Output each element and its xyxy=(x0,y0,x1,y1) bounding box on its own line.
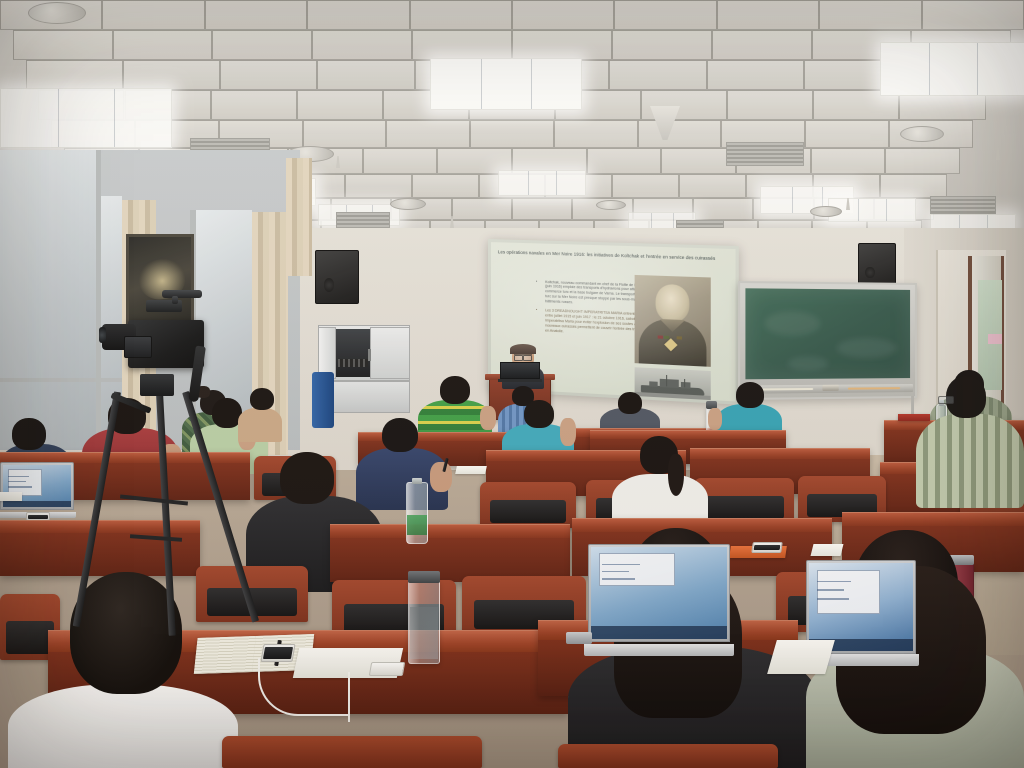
lecture-hall-photo: Les opérations navales en Mer Noire 1916… xyxy=(0,0,1024,768)
desk-surface xyxy=(842,512,1024,527)
ceiling-tile xyxy=(609,60,706,90)
door-notice xyxy=(988,334,1002,344)
arm xyxy=(480,406,496,430)
laptop-text-line xyxy=(817,581,850,583)
laptop-taskbar xyxy=(591,626,727,639)
smoke-detector xyxy=(596,200,626,210)
camera-mic-mount xyxy=(172,296,178,304)
laptop-lid xyxy=(0,462,74,510)
laptop-foreground[interactable] xyxy=(588,544,730,656)
laptop-screen xyxy=(591,547,727,639)
ceiling-tile xyxy=(717,0,819,30)
ceiling-tile xyxy=(614,0,716,30)
chair-foreground-right[interactable] xyxy=(558,744,778,768)
tripod-leg xyxy=(156,392,176,636)
chalk-smudge xyxy=(764,311,820,336)
ceiling-tile xyxy=(26,60,123,90)
head xyxy=(280,452,334,504)
ship-mast xyxy=(666,375,667,386)
torso xyxy=(238,408,282,442)
head xyxy=(382,418,418,452)
ship-superstructure xyxy=(649,381,657,387)
ceiling-tile xyxy=(885,148,960,174)
laptop-text-line xyxy=(602,578,635,580)
slide-title: Les opérations navales en Mer Noire 1916… xyxy=(498,249,728,263)
presenter-laptop[interactable] xyxy=(498,362,542,382)
ceiling-tile xyxy=(638,120,722,148)
ceiling-tile xyxy=(470,120,554,148)
ceiling-tile xyxy=(512,198,572,220)
arm-raised xyxy=(560,418,576,446)
desk-row3-mid xyxy=(330,524,570,582)
board-eraser[interactable] xyxy=(822,385,838,391)
charging-cable xyxy=(348,672,356,722)
laptop-text-line xyxy=(602,564,640,566)
laptop-text-line xyxy=(602,571,629,573)
chair-row2b[interactable] xyxy=(480,482,576,530)
presenter-glasses xyxy=(514,354,532,359)
desk-surface xyxy=(330,524,570,539)
smoke-detector xyxy=(900,126,944,142)
glass-thermos[interactable] xyxy=(408,580,440,664)
ceiling-tile xyxy=(386,120,470,148)
ceiling-tile xyxy=(412,30,512,60)
ceiling-tile xyxy=(363,148,438,174)
person-p-check-shirt xyxy=(916,376,1024,506)
laptop-base xyxy=(584,644,735,656)
ceiling-tile xyxy=(819,0,921,30)
ceiling-tile xyxy=(679,174,746,198)
chair-foreground[interactable] xyxy=(222,736,482,768)
camera-microphone xyxy=(162,290,202,298)
ceiling-tile xyxy=(205,0,307,30)
tripod-spreader xyxy=(120,494,188,505)
cabinet-handle[interactable] xyxy=(368,349,371,361)
ceiling-light-panel xyxy=(430,58,582,110)
ceiling-tile xyxy=(712,30,812,60)
tripod-spreader xyxy=(130,534,182,542)
portrait-ribbon xyxy=(658,335,663,338)
ceiling-tile xyxy=(811,148,886,174)
chair-back xyxy=(558,744,778,768)
ship-mast xyxy=(684,379,685,387)
ceiling-tile xyxy=(123,60,220,90)
head xyxy=(736,382,764,408)
ceiling-tile xyxy=(345,174,412,198)
laptop-left[interactable] xyxy=(0,462,74,518)
ceiling-tile xyxy=(212,30,312,60)
ceiling-tile xyxy=(211,90,297,120)
paper-row2[interactable] xyxy=(455,466,487,474)
cabinet-equipment xyxy=(338,359,368,367)
presenter-laptop-base xyxy=(498,379,542,382)
water-bottle-green[interactable] xyxy=(406,482,428,544)
cabinet-door-closed[interactable] xyxy=(370,327,410,379)
ceiling-tile xyxy=(312,30,412,60)
cabinet-interior xyxy=(336,329,370,377)
head xyxy=(524,400,554,428)
mouse[interactable] xyxy=(566,632,592,644)
paper-left[interactable] xyxy=(0,492,22,501)
presenter-laptop-screen xyxy=(500,362,540,379)
bottle-cap xyxy=(412,478,422,484)
portrait-ribbon xyxy=(677,336,682,339)
ceiling-tile xyxy=(693,198,753,220)
presenter-hair xyxy=(510,344,536,354)
ceiling-tile xyxy=(587,148,662,174)
ceiling-tile xyxy=(922,0,1024,30)
arm xyxy=(430,462,452,492)
ceiling-tile xyxy=(307,0,409,30)
ceiling-tile xyxy=(512,30,612,60)
laptop-window xyxy=(817,570,879,614)
curtain-upper xyxy=(286,158,312,276)
ceiling-light-panel xyxy=(498,170,586,196)
ceiling-tile xyxy=(303,120,387,148)
ceiling-tile xyxy=(220,60,317,90)
ceiling-light-panel xyxy=(0,88,172,148)
arm xyxy=(708,408,722,430)
ceiling-tile xyxy=(554,120,638,148)
wall-speaker-left xyxy=(315,250,359,304)
tripod-head[interactable] xyxy=(140,374,174,396)
chalk-smudge xyxy=(787,356,828,370)
thermos-water xyxy=(410,607,438,659)
ceiling-tile xyxy=(412,174,479,198)
eyeglasses xyxy=(938,396,954,404)
portrait-head xyxy=(656,284,690,322)
ceiling-tile xyxy=(297,90,383,120)
ceiling-tile xyxy=(707,60,804,90)
chalkboard-surface xyxy=(745,288,910,379)
smoke-detector xyxy=(390,198,426,210)
laptop-text-line xyxy=(8,486,31,488)
laptop-text-line xyxy=(817,589,844,591)
ceiling-tile xyxy=(452,198,512,220)
ceiling-tile xyxy=(410,0,512,30)
power-bank[interactable] xyxy=(369,662,405,676)
chair-pad xyxy=(490,500,567,523)
ship-superstructure xyxy=(660,379,679,388)
ceiling-tile xyxy=(880,174,947,198)
torso xyxy=(916,414,1024,508)
ceiling-tile xyxy=(113,30,213,60)
ceiling-tile xyxy=(317,60,414,90)
thermos-cap xyxy=(408,571,440,583)
ceiling-tile xyxy=(512,0,614,30)
smoke-detector xyxy=(810,206,842,217)
laptop-taskbar xyxy=(3,501,71,507)
laptop-text-line xyxy=(8,481,26,483)
head xyxy=(12,418,46,450)
ceiling-tile xyxy=(727,90,813,120)
head xyxy=(250,388,274,410)
video-camera-rig[interactable] xyxy=(96,288,244,632)
ceiling-tile xyxy=(612,30,712,60)
laptop-lid xyxy=(588,544,730,642)
ponytail xyxy=(668,454,684,496)
ceiling-tile xyxy=(661,148,736,174)
person-side-left xyxy=(238,388,282,438)
head xyxy=(440,376,470,404)
cabinet-lower xyxy=(324,381,410,413)
camera-lcd-monitor[interactable] xyxy=(124,336,152,358)
head xyxy=(618,392,642,414)
paper-foreground-right[interactable] xyxy=(767,640,835,674)
torso xyxy=(8,684,238,768)
ceiling-tile xyxy=(102,0,204,30)
blue-container xyxy=(312,372,334,428)
ceiling-air-vent xyxy=(930,196,996,214)
chair-back xyxy=(222,736,482,768)
bottle-label xyxy=(407,515,427,535)
chalk-smudge xyxy=(837,338,897,358)
laptop-text-line xyxy=(8,476,28,478)
ceiling-tile xyxy=(13,30,113,60)
ceiling-air-vent xyxy=(336,212,390,228)
smoke-detector xyxy=(28,2,86,24)
slide-portrait-image xyxy=(635,275,711,367)
laptop-text-line xyxy=(817,598,848,600)
laptop-window xyxy=(599,553,674,586)
ceiling-light-panel xyxy=(880,42,1024,96)
laptop-screen xyxy=(809,563,913,651)
ship-superstructure xyxy=(681,382,691,389)
chair-pad xyxy=(704,496,784,519)
ceiling-air-vent xyxy=(726,142,804,166)
ceiling-tile xyxy=(805,120,889,148)
ceiling-tile xyxy=(612,174,679,198)
sprinkler-head xyxy=(996,148,1000,160)
phone-screen xyxy=(28,515,48,519)
